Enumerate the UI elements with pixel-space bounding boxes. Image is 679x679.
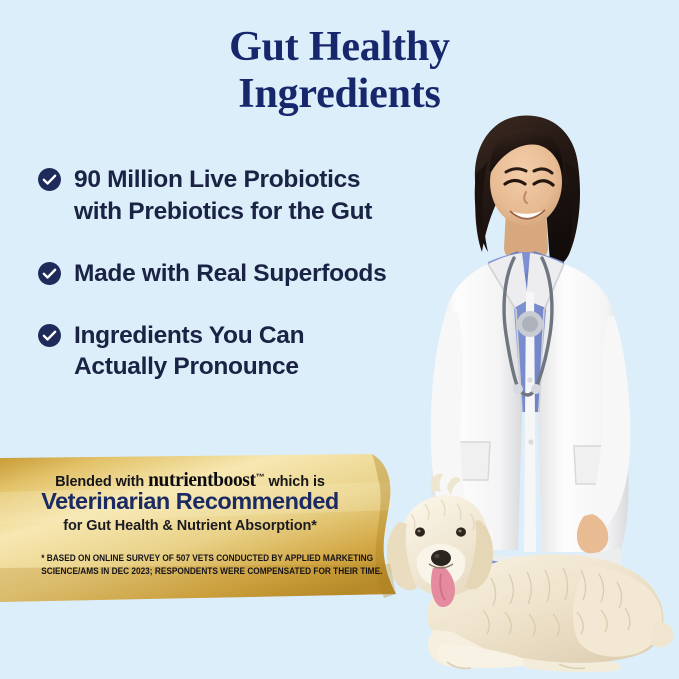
list-item: 90 Million Live Probiotics with Prebioti… [37,164,457,228]
headline-line-1: Gut Healthy [0,24,679,71]
list-item-label: Ingredients You Can Actually Pronounce [74,320,304,384]
list-item-label: 90 Million Live Probiotics with Prebioti… [74,164,372,228]
ribbon-headline: Veterinarian Recommended [0,488,380,515]
trademark-symbol: ™ [256,472,265,482]
list-item-label: Made with Real Superfoods [74,258,386,290]
check-circle-icon [37,167,62,192]
dog-photo [373,462,679,679]
list-item: Ingredients You Can Actually Pronounce [37,320,457,384]
bullet-1-line-2: with Prebiotics for the Gut [74,196,372,228]
ribbon-subline: for Gut Health & Nutrient Absorption* [0,518,380,534]
bullet-2-line-1: Made with Real Superfoods [74,258,386,290]
benefits-list: 90 Million Live Probiotics with Prebioti… [37,164,457,413]
list-item: Made with Real Superfoods [37,258,457,290]
bullet-3-line-2: Actually Pronounce [74,351,304,383]
check-circle-icon [37,323,62,348]
bullet-3-line-1: Ingredients You Can [74,320,304,352]
veterinarian-recommended-banner: Blended with nutrientboost™ which is Vet… [0,452,410,604]
ribbon-text-block: Blended with nutrientboost™ which is Vet… [0,452,380,604]
product-claims-graphic: Gut Healthy Ingredients 90 Million Live … [0,0,679,679]
disclaimer: * BASED ON ONLINE SURVEY OF 507 VETS CON… [41,552,345,578]
check-circle-icon [37,261,62,286]
headline-line-2: Ingredients [0,71,679,118]
disclaimer-line-1: * BASED ON ONLINE SURVEY OF 507 VETS CON… [41,552,345,565]
page-title: Gut Healthy Ingredients [0,24,679,118]
bullet-1-line-1: 90 Million Live Probiotics [74,164,372,196]
disclaimer-line-2: SCIENCE/AMS IN DEC 2023; RESPONDENTS WER… [41,565,345,578]
